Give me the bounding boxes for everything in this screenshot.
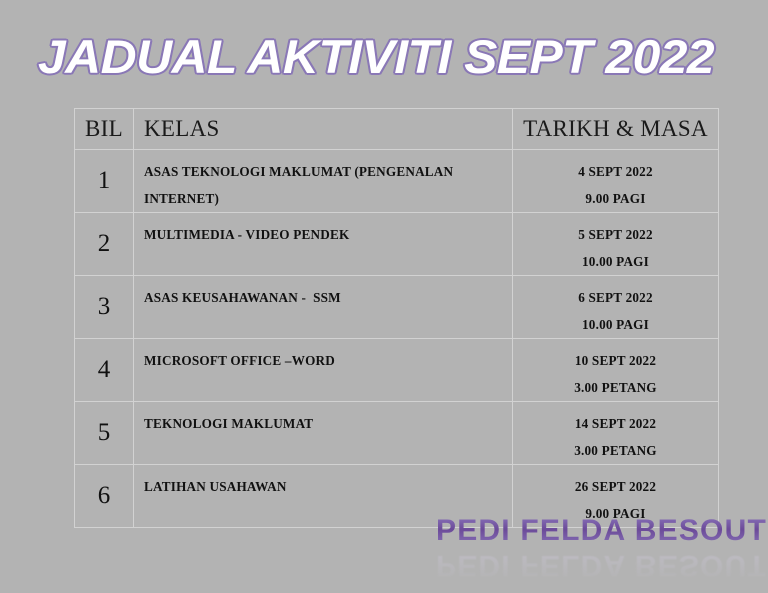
table-header: BIL KELAS TARIKH & MASA: [75, 109, 719, 150]
footer-block: PEDI FELDA BESOUT 3 PEDI FELDA BESOUT 3: [436, 514, 766, 588]
kelas-line: LATIHAN USAHAWAN: [144, 473, 512, 500]
kelas-line: MULTIMEDIA - VIDEO PENDEK: [144, 221, 512, 248]
table-row: 2 MULTIMEDIA - VIDEO PENDEK 5 SEPT 2022 …: [75, 213, 719, 276]
cell-date: 14 SEPT 2022 3.00 PETANG: [513, 402, 719, 465]
slide-canvas: { "theme": { "background": "#b3b3b3", "t…: [0, 0, 768, 593]
date-value: 4 SEPT 2022: [513, 158, 718, 185]
cell-bil: 5: [75, 402, 134, 465]
column-header-date: TARIKH & MASA: [513, 109, 719, 150]
organization-name-reflection: PEDI FELDA BESOUT 3: [436, 548, 766, 582]
time-value: 10.00 PAGI: [513, 248, 718, 275]
table-row: 5 TEKNOLOGI MAKLUMAT 14 SEPT 2022 3.00 P…: [75, 402, 719, 465]
time-value: 3.00 PETANG: [513, 374, 718, 401]
time-value: 3.00 PETANG: [513, 437, 718, 464]
kelas-line: MICROSOFT OFFICE –WORD: [144, 347, 512, 374]
time-value: 9.00 PAGI: [513, 185, 718, 212]
table-row: 3 ASAS KEUSAHAWANAN - SSM 6 SEPT 2022 10…: [75, 276, 719, 339]
cell-kelas: MULTIMEDIA - VIDEO PENDEK: [134, 213, 513, 276]
cell-bil: 6: [75, 465, 134, 528]
date-value: 14 SEPT 2022: [513, 410, 718, 437]
cell-kelas: ASAS KEUSAHAWANAN - SSM: [134, 276, 513, 339]
table-row: 1 ASAS TEKNOLOGI MAKLUMAT (PENGENALAN IN…: [75, 150, 719, 213]
date-value: 10 SEPT 2022: [513, 347, 718, 374]
date-value: 6 SEPT 2022: [513, 284, 718, 311]
title-block: JADUAL AKTIVITI SEPT 2022: [38, 28, 638, 90]
time-value: 10.00 PAGI: [513, 311, 718, 338]
cell-date: 6 SEPT 2022 10.00 PAGI: [513, 276, 719, 339]
date-value: 5 SEPT 2022: [513, 221, 718, 248]
organization-name: PEDI FELDA BESOUT 3: [436, 514, 766, 548]
table-header-row: BIL KELAS TARIKH & MASA: [75, 109, 719, 150]
kelas-line: ASAS TEKNOLOGI MAKLUMAT (PENGENALAN: [144, 158, 512, 185]
cell-date: 10 SEPT 2022 3.00 PETANG: [513, 339, 719, 402]
cell-kelas: ASAS TEKNOLOGI MAKLUMAT (PENGENALAN INTE…: [134, 150, 513, 213]
cell-bil: 4: [75, 339, 134, 402]
cell-kelas: MICROSOFT OFFICE –WORD: [134, 339, 513, 402]
cell-date: 4 SEPT 2022 9.00 PAGI: [513, 150, 719, 213]
page-title: JADUAL AKTIVITI SEPT 2022: [38, 28, 674, 86]
column-header-kelas: KELAS: [134, 109, 513, 150]
table-row: 4 MICROSOFT OFFICE –WORD 10 SEPT 2022 3.…: [75, 339, 719, 402]
kelas-line: TEKNOLOGI MAKLUMAT: [144, 410, 512, 437]
kelas-line: INTERNET): [144, 185, 512, 212]
cell-bil: 2: [75, 213, 134, 276]
date-value: 26 SEPT 2022: [513, 473, 718, 500]
cell-bil: 3: [75, 276, 134, 339]
cell-bil: 1: [75, 150, 134, 213]
table-body: 1 ASAS TEKNOLOGI MAKLUMAT (PENGENALAN IN…: [75, 150, 719, 528]
activity-schedule-table: BIL KELAS TARIKH & MASA 1 ASAS TEKNOLOGI…: [74, 108, 719, 528]
cell-date: 5 SEPT 2022 10.00 PAGI: [513, 213, 719, 276]
column-header-bil: BIL: [75, 109, 134, 150]
cell-kelas: TEKNOLOGI MAKLUMAT: [134, 402, 513, 465]
kelas-line: ASAS KEUSAHAWANAN - SSM: [144, 284, 512, 311]
